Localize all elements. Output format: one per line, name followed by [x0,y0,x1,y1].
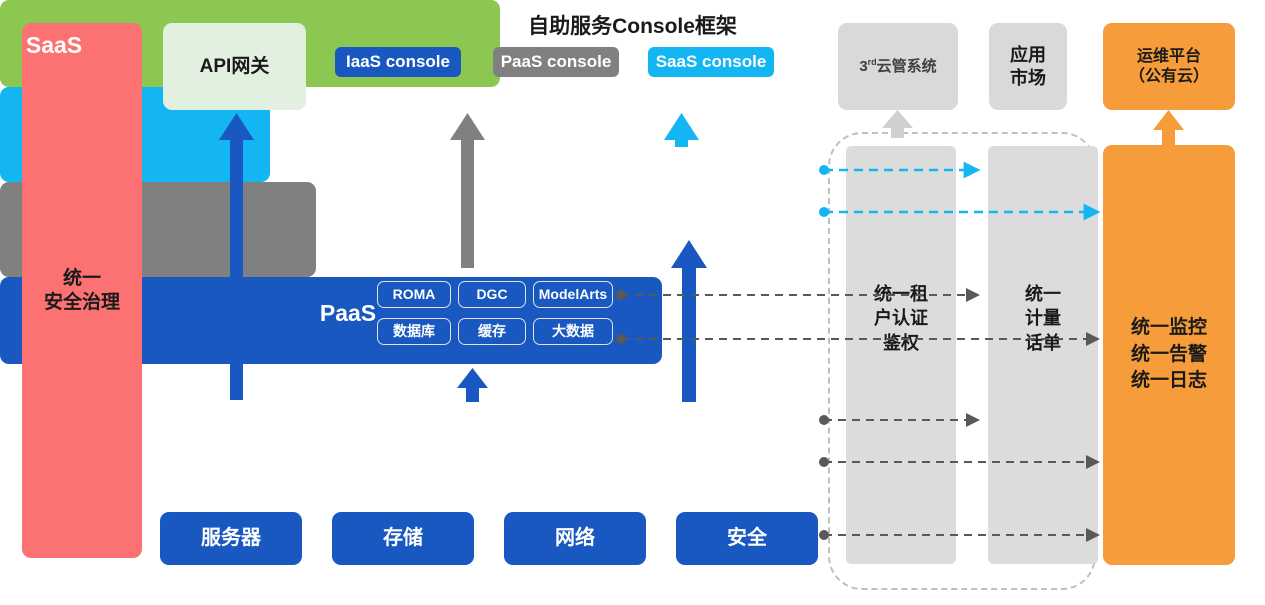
infra-item-network-label: Network [604,429,679,450]
unified-infrastructure-label: 统一基础设施服务 [172,428,340,455]
paas-item-modelarts[interactable]: ModelArts [533,281,613,308]
saas-item-video-cloud-label: 视频云 [654,202,705,221]
paas-console-pill[interactable]: PaaS console [493,47,619,77]
hardware-item-server-label: 服务器 [201,526,261,551]
arrow-infra-to-saas [671,240,707,402]
hardware-item-storage[interactable]: 存储 [332,512,474,565]
ops-platform-public-cloud-block: 运维平台 （公有云） [1103,23,1235,110]
infra-item-cce[interactable]: CCE [708,421,812,458]
paas-item-bigdata[interactable]: 大数据 [533,318,613,345]
api-gateway-label: API网关 [200,55,270,79]
hardware-item-server[interactable]: 服务器 [160,512,302,565]
paas-item-database-label: 数据库 [393,324,435,339]
paas-item-cache[interactable]: 缓存 [458,318,526,345]
hardware-item-storage-label: 存储 [383,526,423,551]
paas-item-dgc[interactable]: DGC [458,281,526,308]
arrow-paas-to-console [450,113,485,268]
infra-item-network[interactable]: Network [585,421,697,458]
console-framework-title: 自助服务Console框架 [0,10,1265,40]
iaas-console-label: IaaS console [346,53,450,72]
saas-item-video-cloud[interactable]: 视频云 [643,197,715,226]
saas-item-blockchain-label: 区块链 [654,163,705,182]
unified-ops-column: 统一监控 统一告警 统一日志 [1103,145,1235,565]
paas-item-database[interactable]: 数据库 [377,318,451,345]
hardware-item-security-label: 安全 [727,526,767,551]
security-governance-label: 统一 安全治理 [44,267,120,315]
arrow-infra-to-paas [457,368,488,402]
saas-item-iot[interactable]: IoT [724,158,794,187]
infra-item-storage-label: Storage [484,429,555,450]
infra-item-compute-label: Compute [358,429,440,450]
saas-item-blockchain[interactable]: 区块链 [643,158,715,187]
saas-item-desktop-cloud-label: 桌面云 [734,202,785,221]
app-market-block: 应用 市场 [989,23,1067,110]
app-market-label: 应用 市场 [1010,44,1046,89]
unified-metering-column [988,146,1098,564]
unified-tenant-auth-label: 统一租 户认证 鉴权 [846,282,956,355]
unified-ops-label: 统一监控 统一告警 统一日志 [1131,315,1207,395]
saas-item-desktop-cloud[interactable]: 桌面云 [724,197,794,226]
paas-label: PaaS [312,300,384,327]
unified-metering-label: 统一 计量 话单 [988,282,1098,355]
saas-item-iot-label: IoT [746,163,772,182]
third-party-cloud-mgmt-block: 3rd云管系统 [838,23,958,110]
paas-item-bigdata-label: 大数据 [552,324,594,339]
saas-console-pill[interactable]: SaaS console [648,47,774,77]
saas-label: SaaS [10,32,98,59]
infra-item-cce-label: CCE [740,429,780,450]
infra-item-storage[interactable]: Storage [465,421,573,458]
ops-platform-label: 运维平台 （公有云） [1129,47,1209,87]
paas-console-label: PaaS console [501,53,612,72]
paas-item-cache-label: 缓存 [478,324,506,339]
paas-item-roma-label: ROMA [393,287,436,302]
hardware-item-security[interactable]: 安全 [676,512,818,565]
paas-item-modelarts-label: ModelArts [539,287,607,302]
unified-tenant-auth-column [846,146,956,564]
security-governance-block: 统一 安全治理 [22,23,142,558]
third-party-label: 3rd云管系统 [859,57,936,77]
architecture-diagram: 统一 安全治理 API网关 自助服务Console框架 IaaS console… [0,0,1265,605]
iaas-console-pill[interactable]: IaaS console [335,47,461,77]
paas-item-dgc-label: DGC [476,287,507,302]
hardware-item-network[interactable]: 网络 [504,512,646,565]
hardware-item-network-label: 网络 [555,526,595,551]
arrow-to-ops-platform [1153,110,1184,145]
saas-console-label: SaaS console [656,53,767,72]
infra-item-compute[interactable]: Compute [345,421,453,458]
third-party-superscript: rd [868,57,877,67]
arrow-saas-to-console [664,113,699,147]
paas-item-roma[interactable]: ROMA [377,281,451,308]
